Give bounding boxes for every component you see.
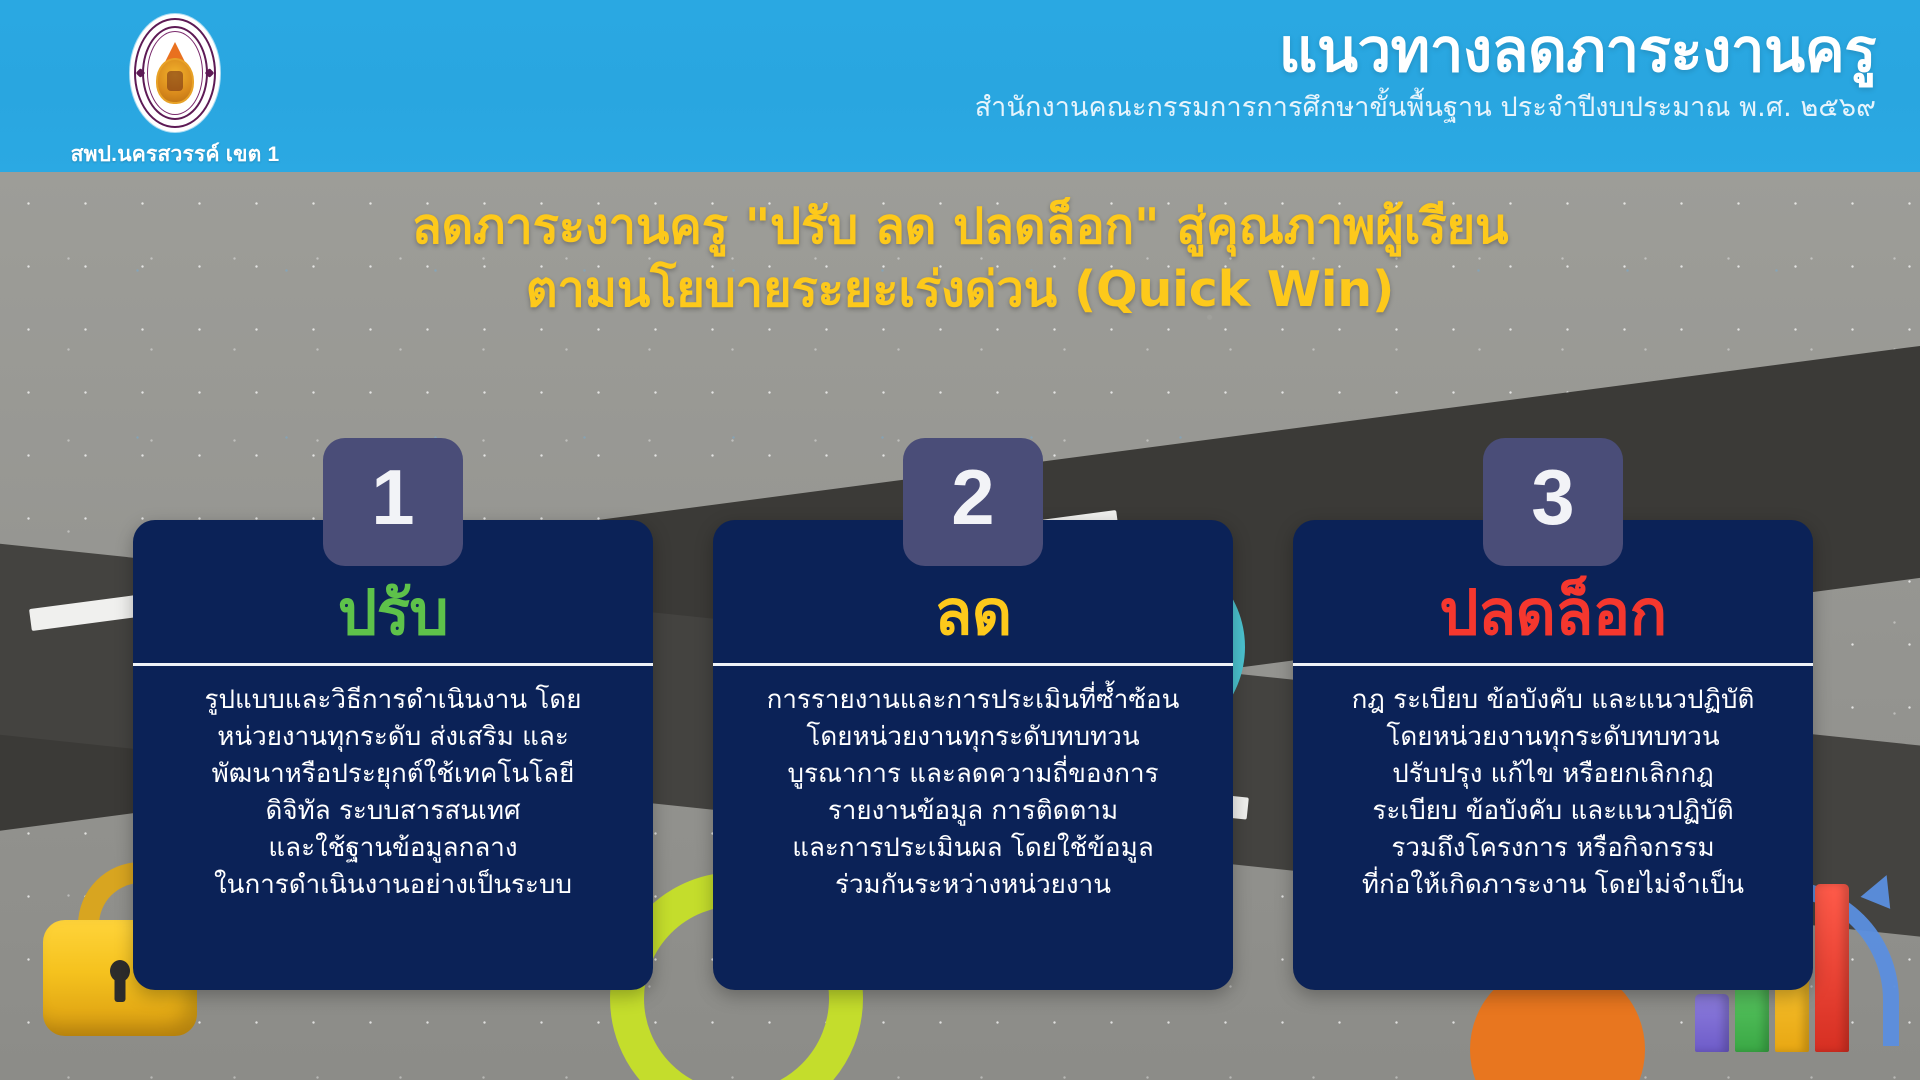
seal-shield-icon: [156, 58, 194, 104]
card-body-text: การรายงานและการประเมินที่ซ้ำซ้อน โดยหน่ว…: [741, 666, 1206, 903]
card-number: 3: [1531, 458, 1574, 546]
spb-official-seal-icon: [130, 14, 220, 132]
page-title: แนวทางลดภาระงานครู: [975, 20, 1876, 84]
organization-logo: สพป.นครสวรรค์ เขต 1: [60, 14, 290, 171]
card-panel: ลด การรายงานและการประเมินที่ซ้ำซ้อน โดยห…: [713, 520, 1233, 990]
card-number-badge: 1: [323, 438, 463, 566]
card-number-badge: 3: [1483, 438, 1623, 566]
card-title: ปรับ: [338, 580, 449, 645]
card-body-text: รูปแบบและวิธีการดำเนินงาน โดย หน่วยงานทุ…: [179, 666, 608, 903]
card-title: ปลดล็อก: [1439, 580, 1666, 645]
card-reduce[interactable]: ลด การรายงานและการประเมินที่ซ้ำซ้อน โดยห…: [713, 520, 1233, 990]
card-body-text: กฎ ระเบียบ ข้อบังคับ และแนวปฏิบัติ โดยหน…: [1326, 666, 1781, 903]
card-adjust[interactable]: ปรับ รูปแบบและวิธีการดำเนินงาน โดย หน่วย…: [133, 520, 653, 990]
card-number-badge: 2: [903, 438, 1043, 566]
seal-emblem: [155, 42, 195, 104]
card-title: ลด: [934, 580, 1011, 645]
organization-name: สพป.นครสวรรค์ เขต 1: [60, 138, 290, 171]
card-panel: ปรับ รูปแบบและวิธีการดำเนินงาน โดย หน่วย…: [133, 520, 653, 990]
header-titles: แนวทางลดภาระงานครู สำนักงานคณะกรรมการการ…: [975, 20, 1876, 124]
card-unlock[interactable]: ปลดล็อก กฎ ระเบียบ ข้อบังคับ และแนวปฏิบั…: [1293, 520, 1813, 990]
page-header: สพป.นครสวรรค์ เขต 1 แนวทางลดภาระงานครู ส…: [0, 0, 1920, 172]
card-number: 1: [371, 458, 414, 546]
card-panel: ปลดล็อก กฎ ระเบียบ ข้อบังคับ และแนวปฏิบั…: [1293, 520, 1813, 990]
card-number: 2: [951, 458, 994, 546]
infographic-canvas: สพป.นครสวรรค์ เขต 1 แนวทางลดภาระงานครู ส…: [0, 0, 1920, 1080]
page-subtitle: สำนักงานคณะกรรมการการศึกษาขั้นพื้นฐาน ปร…: [975, 92, 1876, 124]
